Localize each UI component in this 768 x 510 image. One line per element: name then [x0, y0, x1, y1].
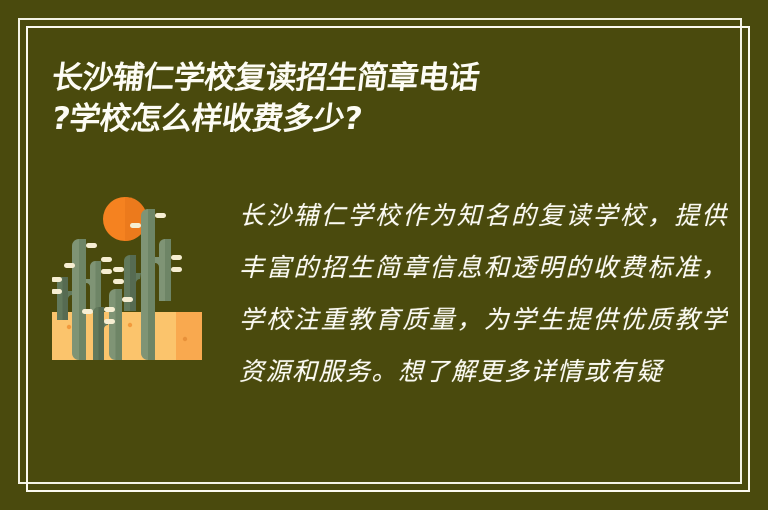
page-title-line-1: 长沙辅仁学校复读招生简章电话 — [49, 58, 714, 99]
page-title: 长沙辅仁学校复读招生简章电话 ?学校怎么样收费多少? — [52, 58, 712, 140]
cactus-desert-icon — [52, 195, 202, 360]
body-text-container: 长沙辅仁学校作为知名的复读学校，提供丰富的招生简章信息和透明的收费标准，学校注重… — [227, 190, 728, 398]
sand-dot — [67, 325, 71, 329]
page-root: 长沙辅仁学校复读招生简章电话 ?学校怎么样收费多少? — [0, 0, 768, 510]
illustration-container — [52, 190, 227, 360]
body-paragraph: 长沙辅仁学校作为知名的复读学校，提供丰富的招生简章信息和透明的收费标准，学校注重… — [239, 190, 728, 398]
page-title-line-2: ?学校怎么样收费多少? — [49, 99, 714, 140]
sand-ground-dark — [176, 312, 202, 360]
sand-dot — [128, 323, 132, 327]
sand-dot — [183, 337, 187, 341]
content-row: 长沙辅仁学校作为知名的复读学校，提供丰富的招生简章信息和透明的收费标准，学校注重… — [52, 190, 728, 484]
